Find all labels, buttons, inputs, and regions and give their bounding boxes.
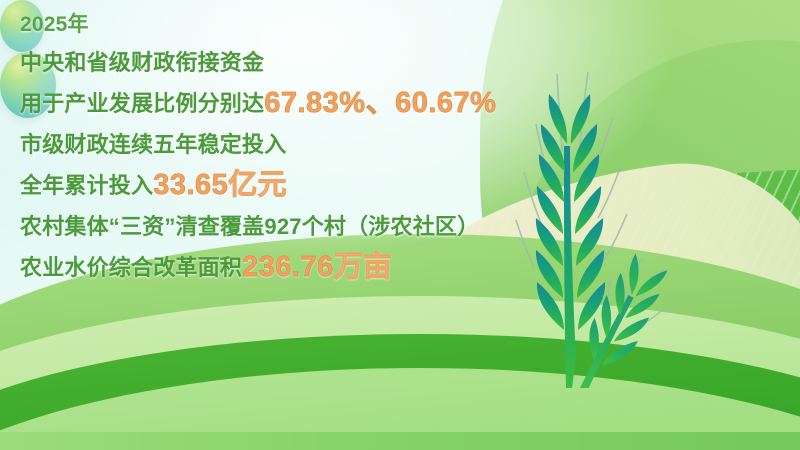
annual-investment-prefix: 全年累计投入 (20, 173, 153, 198)
background-hill-layer-3 (0, 334, 800, 450)
background-hill-layer-4 (0, 368, 800, 450)
stat-line-industry-ratio: 用于产业发展比例分别达67.83%、60.67% (20, 83, 610, 124)
stat-line-water-price-reform-area: 农业水价综合改革面积236.76万亩 (20, 247, 610, 288)
background-bottom-strip (0, 432, 800, 450)
industry-ratio-separator: 、 (366, 87, 396, 119)
stat-line-central-provincial-funds: 中央和省级财政衔接资金 (20, 42, 610, 83)
industry-ratio-value-provincial: 60.67% (395, 87, 496, 119)
water-price-reform-value: 236.76 (242, 251, 334, 283)
headline-year-label: 2025年 (20, 13, 89, 36)
stat-line-2-label: 中央和省级财政衔接资金 (20, 50, 264, 75)
water-price-reform-prefix: 农业水价综合改革面积 (20, 255, 242, 280)
statistics-text-block: 2025年 中央和省级财政衔接资金 用于产业发展比例分别达67.83%、60.6… (20, 8, 610, 288)
stat-line-annual-investment: 全年累计投入33.65亿元 (20, 165, 610, 206)
industry-ratio-prefix: 用于产业发展比例分别达 (20, 91, 264, 116)
stat-line-4-label: 市级财政连续五年稳定投入 (20, 132, 286, 157)
infographic-poster: 2025年 中央和省级财政衔接资金 用于产业发展比例分别达67.83%、60.6… (0, 0, 800, 450)
industry-ratio-value-central: 67.83% (264, 87, 365, 119)
stat-line-6-label: 农村集体“三资”清查覆盖927个村（涉农社区） (20, 214, 479, 239)
stat-line-village-audit-coverage: 农村集体“三资”清查覆盖927个村（涉农社区） (20, 206, 610, 247)
annual-investment-value: 33.65 (153, 169, 228, 201)
headline-year: 2025年 (20, 8, 610, 42)
water-price-reform-unit: 万亩 (334, 251, 392, 283)
background-hill-layer-2 (0, 296, 800, 444)
annual-investment-unit: 亿元 (228, 169, 286, 201)
stat-line-municipal-stable-investment: 市级财政连续五年稳定投入 (20, 124, 610, 165)
